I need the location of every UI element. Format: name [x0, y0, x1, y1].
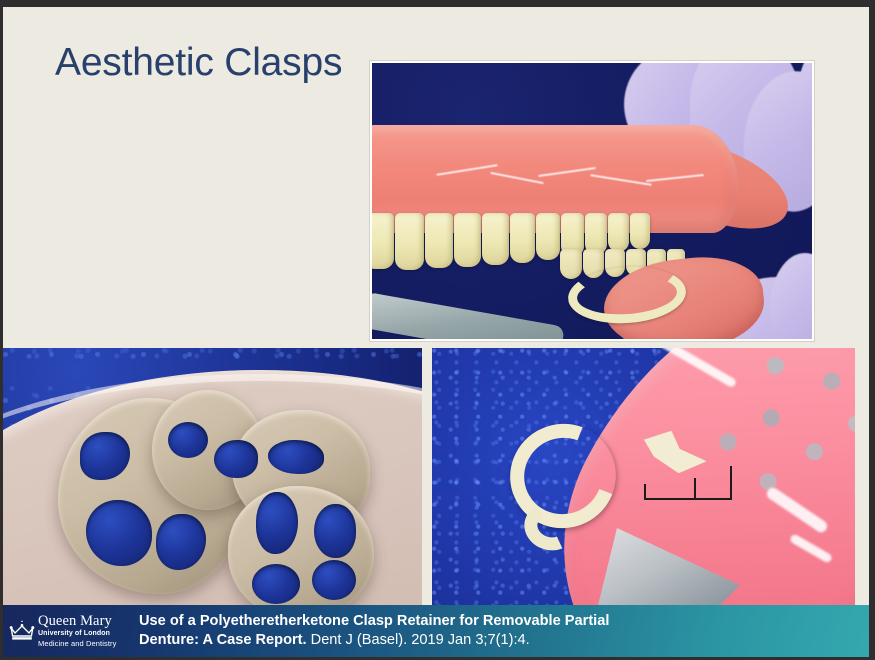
- page-title: Aesthetic Clasps: [55, 41, 342, 85]
- citation-journal: Dent J (Basel). 2019 Jan 3;7(1):4.: [307, 632, 530, 648]
- measurement-bracket-annotation: [644, 464, 732, 504]
- image-denture-in-gloved-hand: [370, 61, 814, 341]
- image-peek-framework-casts: [3, 348, 422, 612]
- image-peek-clasp-close-up: [432, 348, 855, 612]
- window-border-left: [0, 0, 3, 660]
- framework-opening: [252, 564, 300, 604]
- framework-opening: [312, 560, 356, 600]
- logo-faculty: Medicine and Dentistry: [38, 640, 117, 648]
- framework-opening: [314, 504, 356, 558]
- framework-opening: [168, 422, 208, 458]
- framework-opening: [268, 440, 324, 474]
- window-border-right: [869, 0, 875, 660]
- slide-root: Aesthetic Clasps: [0, 0, 875, 660]
- queen-mary-logo: Queen Mary University of London Medicine…: [3, 605, 131, 657]
- logo-institution-sub: University of London: [38, 630, 117, 637]
- citation-banner: Queen Mary University of London Medicine…: [3, 605, 869, 657]
- logo-institution-name: Queen Mary: [38, 614, 117, 629]
- citation-title-line2: Denture: A Case Report.: [139, 632, 307, 648]
- framework-opening: [214, 440, 258, 478]
- window-border-top: [0, 0, 875, 7]
- citation-text: Use of a Polyetheretherketone Clasp Reta…: [131, 612, 869, 649]
- citation-title-line1: Use of a Polyetheretherketone Clasp Reta…: [139, 613, 609, 629]
- logo-text: Queen Mary University of London Medicine…: [38, 614, 117, 648]
- slide-canvas: Aesthetic Clasps: [3, 7, 869, 657]
- crown-icon: [9, 619, 35, 643]
- framework-opening: [86, 500, 152, 566]
